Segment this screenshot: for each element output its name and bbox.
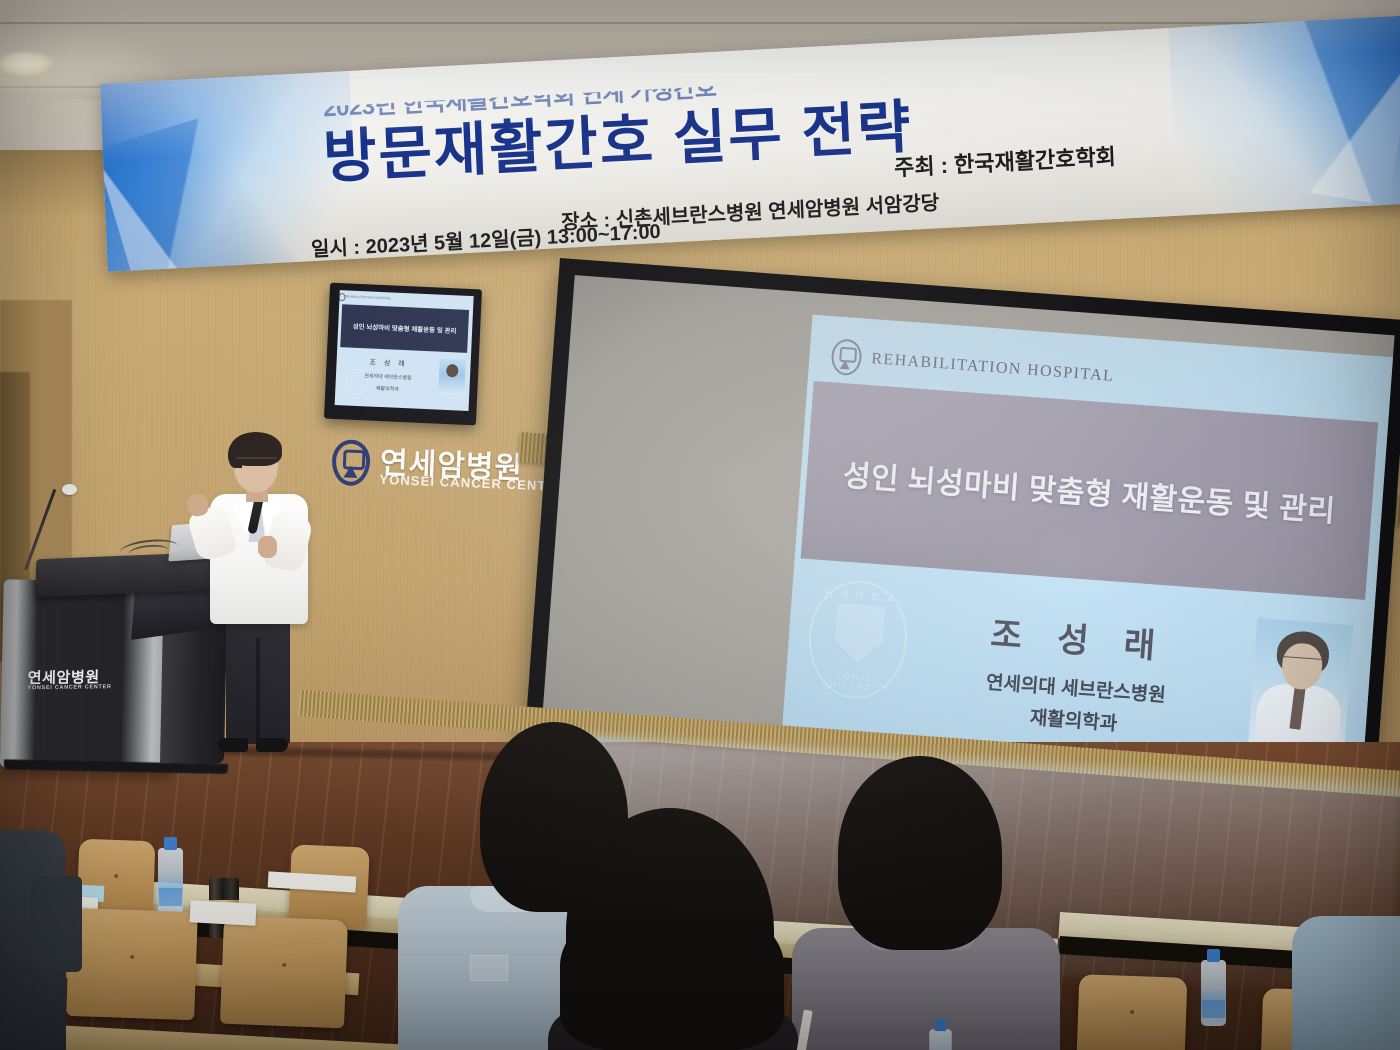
handout-paper [189, 900, 256, 925]
presenter-speaker [196, 432, 324, 762]
monitor-affiliation-line2: 재활의학과 [335, 384, 439, 396]
audience-member-1-pocket [470, 955, 508, 981]
wall-monitor: REHABILITATION HOSPITAL 성인 뇌성마비 맞춤형 재활운동… [324, 283, 482, 426]
banner-title: 방문재활간호 실무 전략 [321, 80, 914, 195]
water-bottle [929, 1029, 952, 1050]
chair-back [220, 916, 348, 1029]
lecture-hall-photo: 2023년 한국재활간호학회 연계 가정간호 방문재활간호 실무 전략 주최 :… [0, 0, 1400, 1050]
water-bottle [1201, 960, 1226, 1026]
slide-title-bar: 성인 뇌성마비 맞춤형 재활운동 및 관리 [801, 381, 1379, 600]
chair-back [66, 908, 198, 1020]
audience-member-2-head [566, 808, 774, 1050]
slide-presenter-name: 조 성 래 [928, 602, 1231, 673]
presenter-hand-right [258, 536, 277, 558]
monitor-screen: REHABILITATION HOSPITAL 성인 뇌성마비 맞춤형 재활운동… [335, 290, 474, 411]
ceiling-seam [0, 22, 1400, 24]
water-bottle [158, 848, 183, 914]
audience-member-right [1292, 916, 1400, 1050]
monitor-presenter-photo [438, 359, 466, 396]
slide-presenter-photo [1248, 618, 1353, 757]
podium-logo-english: YONSEI CANCER CENTER [27, 684, 111, 691]
rehab-hospital-emblem-icon [830, 338, 863, 376]
presenter-shoe-right [256, 738, 288, 752]
monitor-presenter-name: 조 성 래 [336, 356, 440, 371]
chair-back [1077, 974, 1188, 1050]
watermark-english: YONSEI UNIVERSITY [811, 670, 902, 695]
audience-member-3-head [838, 756, 1002, 950]
watermark-korean: 연세대학교 [824, 586, 903, 605]
monitor-logo-emblem-icon [338, 293, 345, 301]
slide-logo-text: REHABILITATION HOSPITAL [871, 350, 1115, 386]
monitor-logo-text: REHABILITATION HOSPITAL [344, 294, 391, 300]
banner-graphic-right [1169, 15, 1400, 215]
slide-title: 성인 뇌성마비 맞춤형 재활운동 및 관리 [842, 450, 1338, 530]
podium-microphone-head [62, 484, 77, 495]
monitor-title-bar: 성인 뇌성마비 맞춤형 재활운동 및 관리 [340, 304, 469, 353]
presenter-glasses-icon [236, 457, 277, 468]
presenter-leg-split [256, 638, 260, 742]
banner-host: 주최 : 한국재활간호학회 [893, 139, 1116, 183]
presenter-shoe-left [218, 738, 248, 752]
monitor-title: 성인 뇌성마비 맞춤형 재활운동 및 관리 [353, 322, 457, 336]
audience-far-left-arm [30, 876, 82, 972]
yonsei-university-watermark-icon: 연세대학교 YONSEI UNIVERSITY [805, 577, 911, 702]
